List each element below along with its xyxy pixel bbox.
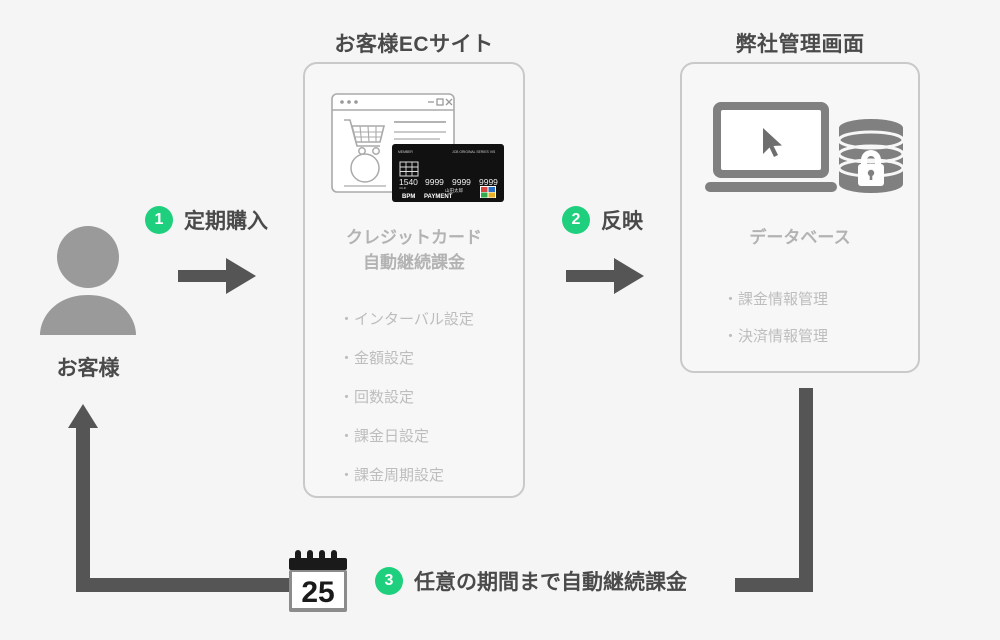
- laptop-icon: [705, 102, 837, 192]
- calendar-day: 25: [301, 576, 334, 609]
- step-2-label: 反映: [601, 205, 643, 235]
- return-flow-vertical-right: [799, 388, 813, 588]
- svg-text:9999: 9999: [452, 177, 471, 187]
- admin-screen-title: 弊社管理画面: [680, 28, 920, 58]
- ec-site-heading: クレジットカード 自動継続課金: [303, 226, 525, 275]
- ec-site-illustration: MEMBER JCB ORIGINAL SERIES VIS 1540 9999…: [330, 92, 506, 204]
- diagram-canvas: お客様 1 定期購入 お客様ECサイト: [0, 0, 1000, 640]
- svg-text:PAYMENT: PAYMENT: [424, 194, 453, 200]
- step-3-label: 任意の期間まで自動継続課金: [414, 566, 687, 596]
- ec-site-heading-line2: 自動継続課金: [303, 251, 525, 276]
- arrow-right-icon: [178, 258, 256, 299]
- database-heading: データベース: [680, 226, 920, 251]
- step-1: 1 定期購入: [145, 205, 268, 235]
- svg-text:VALID: VALID: [399, 186, 406, 190]
- return-flow-vertical-left: [76, 425, 90, 588]
- ec-site-title: お客様ECサイト: [303, 28, 525, 58]
- database-cylinder-icon: [839, 119, 903, 193]
- calendar-icon: 25: [287, 548, 355, 618]
- step-3-badge: 3: [375, 567, 403, 595]
- step-1-label: 定期購入: [184, 205, 268, 235]
- svg-text:BPM: BPM: [402, 194, 415, 200]
- return-flow-bottom-right: [735, 578, 813, 592]
- list-item: ・課金周期設定: [339, 464, 474, 485]
- list-item: ・課金日設定: [339, 425, 474, 446]
- return-flow-bottom-left: [76, 578, 298, 592]
- list-item: ・インターバル設定: [339, 308, 474, 329]
- list-item: ・金額設定: [339, 347, 474, 368]
- customer-label: お客様: [0, 352, 176, 382]
- svg-text:JCB ORIGINAL SERIES VIS: JCB ORIGINAL SERIES VIS: [452, 150, 496, 154]
- svg-text:9999: 9999: [479, 177, 498, 187]
- svg-text:山田太郎: 山田太郎: [445, 187, 463, 194]
- list-item: ・課金情報管理: [723, 288, 828, 309]
- svg-text:1540: 1540: [399, 177, 418, 187]
- credit-card-icon: MEMBER JCB ORIGINAL SERIES VIS 1540 9999…: [392, 144, 504, 202]
- person-silhouette-icon: [36, 225, 140, 335]
- step-2: 2 反映: [562, 205, 643, 235]
- arrow-right-icon: [566, 258, 644, 299]
- svg-text:MEMBER: MEMBER: [398, 150, 413, 154]
- list-item: ・決済情報管理: [723, 325, 828, 346]
- admin-screen-feature-list: ・課金情報管理 ・決済情報管理: [723, 288, 828, 362]
- step-2-badge: 2: [562, 206, 590, 234]
- step-3: 3 任意の期間まで自動継続課金: [375, 566, 687, 596]
- ec-site-heading-line1: クレジットカード: [303, 226, 525, 251]
- step-1-badge: 1: [145, 206, 173, 234]
- admin-screen-illustration: [705, 98, 905, 198]
- svg-text:9999: 9999: [425, 177, 444, 187]
- list-item: ・回数設定: [339, 386, 474, 407]
- arrow-up-icon: [68, 404, 98, 428]
- ec-site-feature-list: ・インターバル設定 ・金額設定 ・回数設定 ・課金日設定 ・課金周期設定: [339, 308, 474, 503]
